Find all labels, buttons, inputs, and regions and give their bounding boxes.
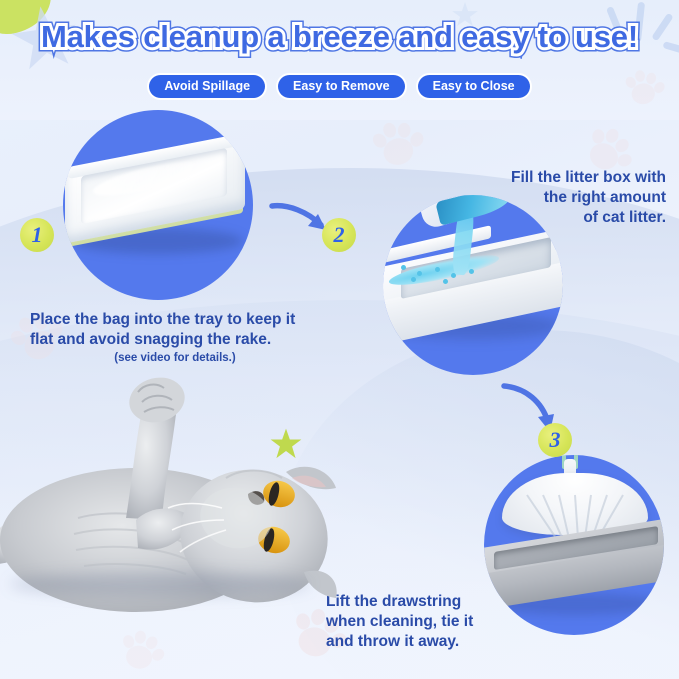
feature-badge-row: Avoid Spillage Easy to Remove Easy to Cl… [0,75,679,98]
litter-granule [443,279,448,284]
badge-easy-to-remove: Easy to Remove [278,75,405,98]
page-title: Makes cleanup a breeze and easy to use! [0,19,679,55]
cat-shadow [10,572,310,596]
step-2-caption: Fill the litter box with the right amoun… [398,168,666,227]
cat-photo [0,368,338,636]
litter-granule [417,271,422,276]
step-number-1: 1 [20,218,54,252]
step-1-photo-circle [63,110,253,300]
badge-easy-to-close: Easy to Close [418,75,530,98]
step-number-3: 3 [538,423,572,457]
step-number-2: 2 [322,218,356,252]
step-3-caption: Lift the drawstring when cleaning, tie i… [326,592,556,651]
litter-granule [469,269,474,274]
litter-granule [411,277,416,282]
product-infographic: Makes cleanup a breeze and easy to use! … [0,0,679,679]
litter-granule [435,267,440,272]
step-1-sub-caption: (see video for details.) [30,352,320,364]
badge-avoid-spillage: Avoid Spillage [149,75,265,98]
litter-granule [401,265,406,270]
header-background-band [0,0,679,120]
step-1-caption: Place the bag into the tray to keep it f… [30,310,320,350]
